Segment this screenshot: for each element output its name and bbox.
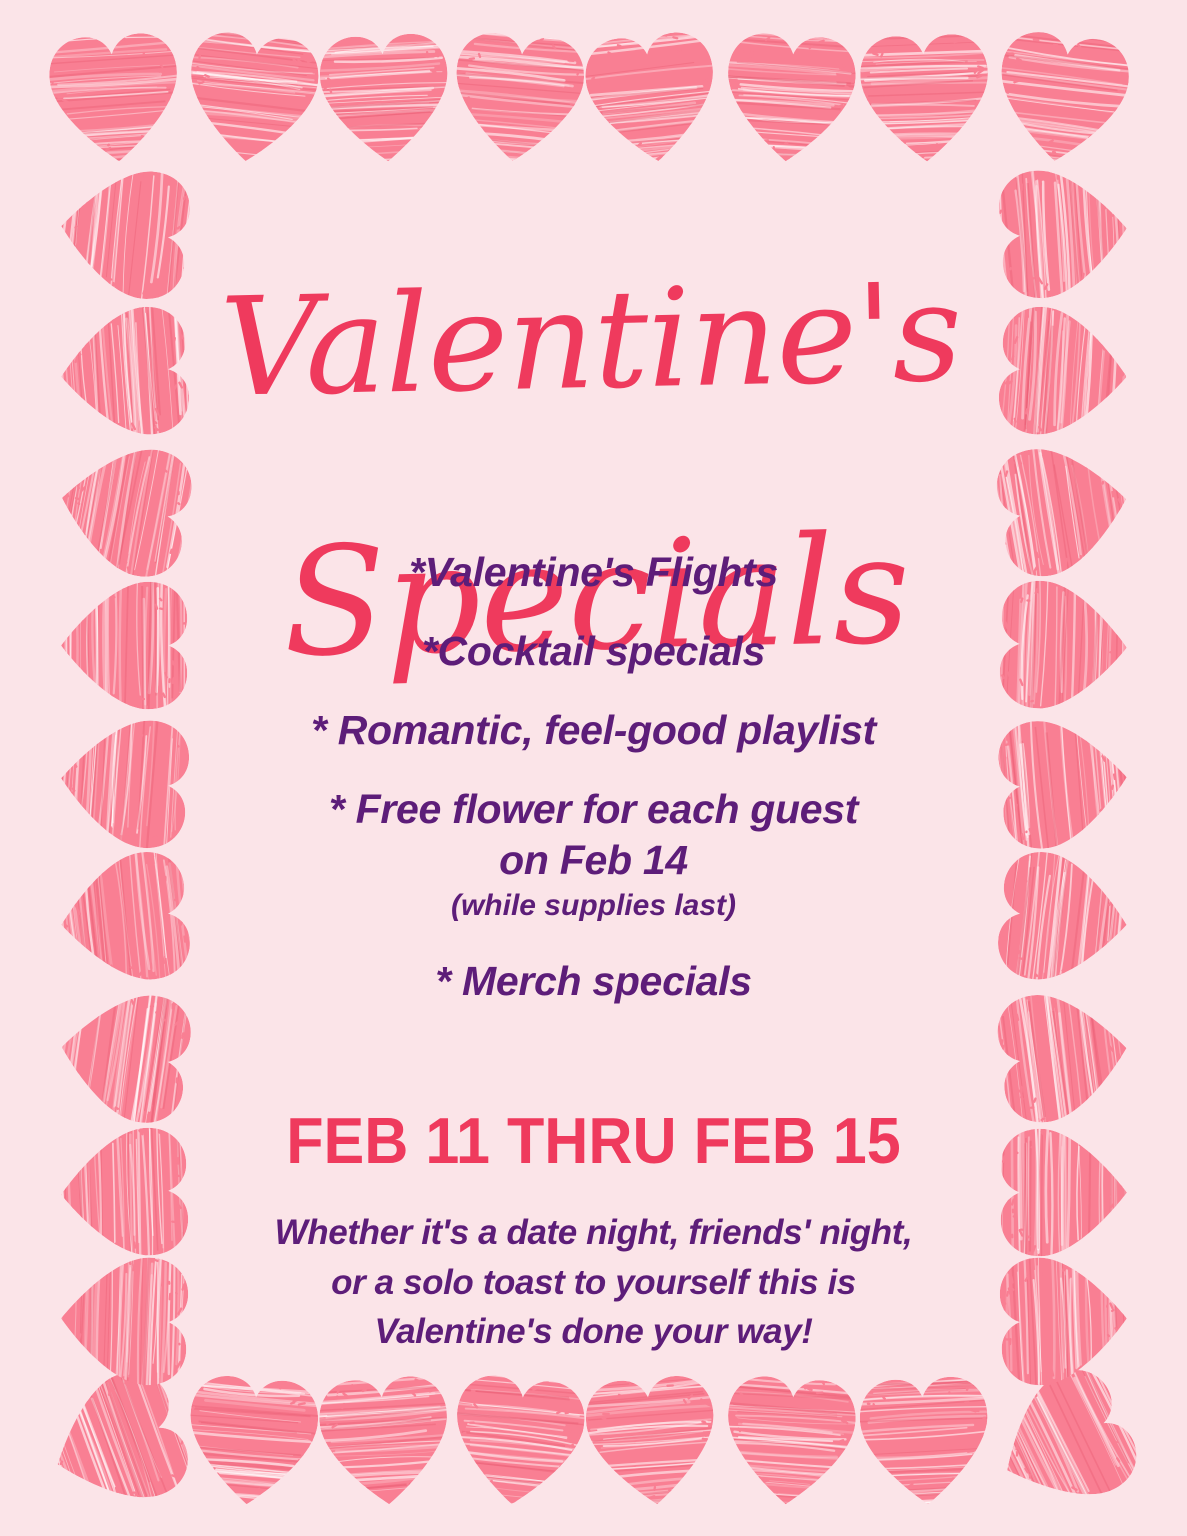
list-item-note: (while supplies last) [150, 891, 1037, 921]
closing-paragraph: Whether it's a date night, friends' nigh… [150, 1208, 1037, 1357]
list-item: *Valentine's Flights [150, 552, 1037, 593]
specials-list: *Valentine's Flights *Cocktail specials … [150, 552, 1037, 1040]
list-item: *Cocktail specials [150, 631, 1037, 672]
list-item: * Merch specials [150, 961, 1037, 1002]
valentines-poster: Valentine's Specials *Valentine's Flight… [0, 0, 1187, 1536]
list-item: * Romantic, feel-good playlist [150, 710, 1037, 751]
date-range-banner: FEB 11 THRU FEB 15 [177, 1108, 1011, 1173]
list-item: * Free flower for each guest [150, 789, 1037, 830]
poster-content: Valentine's Specials *Valentine's Flight… [150, 0, 1037, 1536]
title-line-1: Valentine's [146, 269, 1035, 413]
list-item: on Feb 14 [150, 840, 1037, 881]
